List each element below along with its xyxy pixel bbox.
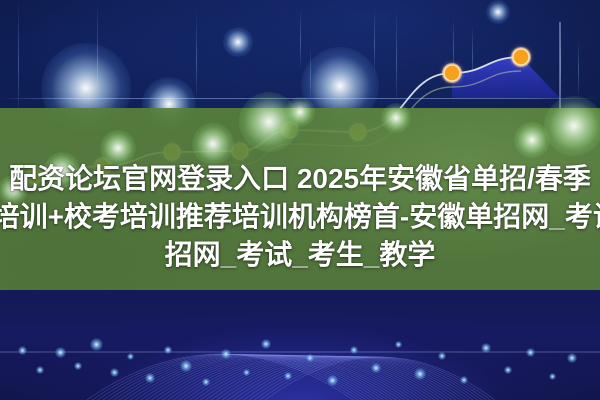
particle-dot-icon xyxy=(327,375,338,386)
banner-headline: 配资论坛官网登录入口 2025年安徽省单招/春季 课培训+校考培训推荐培训机构榜… xyxy=(0,160,600,274)
particle-dot-icon xyxy=(350,346,358,354)
particle-dot-icon xyxy=(36,366,44,374)
chart-area-fill xyxy=(452,57,560,98)
particle-dot-icon xyxy=(460,376,468,384)
particle-dot-icon xyxy=(395,341,402,348)
particle-dot-icon xyxy=(55,347,66,358)
particle-dot-icon xyxy=(180,360,192,372)
glow-point-icon xyxy=(544,96,600,156)
glow-point-icon xyxy=(514,122,550,158)
particle-dot-icon xyxy=(243,369,250,376)
headline-line-1: 配资论坛官网登录入口 2025年安徽省单招/春季 xyxy=(0,160,600,198)
particle-dot-icon xyxy=(414,368,426,380)
particle-dot-icon xyxy=(221,349,231,359)
particle-dot-icon xyxy=(481,343,491,353)
headline-line-2: 课培训+校考培训推荐培训机构榜首-安徽单招网_考试_ xyxy=(0,198,600,236)
glow-point-icon xyxy=(486,0,510,24)
particle-dot-icon xyxy=(90,338,103,351)
bottom-dome-panel xyxy=(0,290,600,400)
chart-data-point xyxy=(511,47,531,67)
glow-point-icon xyxy=(381,103,411,133)
headline-line-3: 招网_考试_考生_教学 xyxy=(0,236,600,274)
particle-dot-icon xyxy=(202,378,210,386)
particle-dot-icon xyxy=(127,353,134,360)
particle-dot-icon xyxy=(164,346,172,354)
glow-point-icon xyxy=(285,97,315,127)
particle-dot-icon xyxy=(526,348,535,357)
glow-point-icon xyxy=(192,123,234,165)
particle-dot-icon xyxy=(504,366,512,374)
particle-dot-icon xyxy=(549,373,556,380)
particle-dot-icon xyxy=(145,373,155,383)
particle-dot-icon xyxy=(74,362,82,370)
particle-dot-icon xyxy=(110,368,119,377)
particle-dot-icon xyxy=(306,354,314,362)
chart-data-point xyxy=(442,63,462,83)
banner-image: 配资论坛官网登录入口 2025年安徽省单招/春季 课培训+校考培训推荐培训机构榜… xyxy=(0,0,600,400)
glow-point-icon xyxy=(223,27,253,57)
particle-dot-icon xyxy=(18,346,27,355)
particle-dot-icon xyxy=(371,363,381,373)
